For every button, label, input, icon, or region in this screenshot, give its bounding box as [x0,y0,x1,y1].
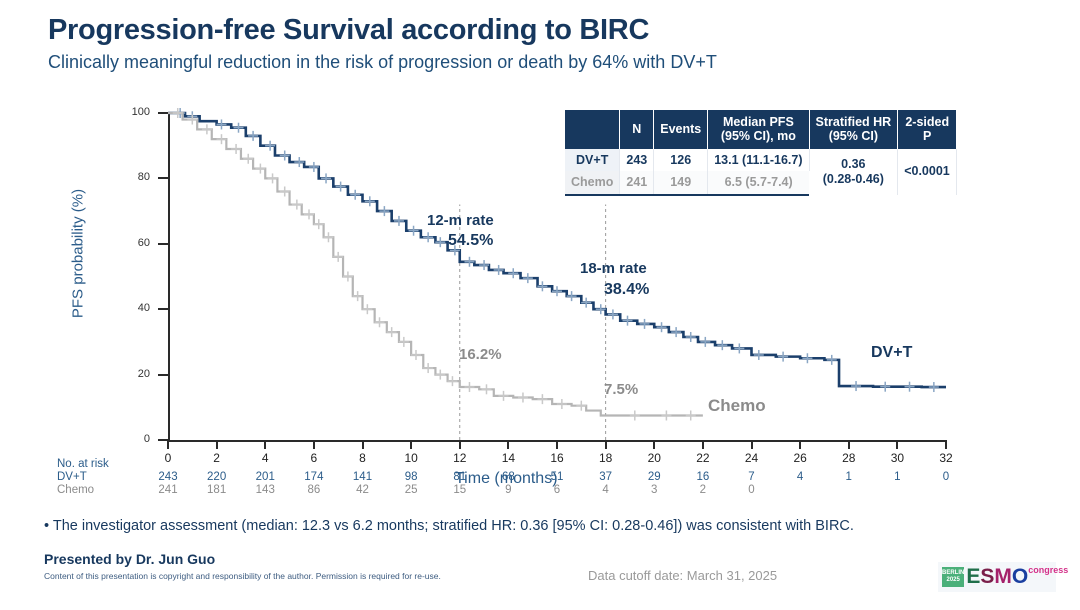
risk-cell: 6 [540,484,574,496]
logo-berlin-badge: BERLIN 2025 [942,567,964,587]
copyright-notice: Content of this presentation is copyrigh… [44,571,441,581]
censor-mark [202,124,212,134]
censor-mark [537,394,547,404]
statistics-table: N Events Median PFS (95% CI), mo Stratif… [565,110,957,196]
censor-mark [508,268,518,278]
censor-mark [905,382,915,392]
censor-mark [754,350,764,360]
risk-cell: 201 [248,471,282,483]
censor-mark [581,298,591,308]
censor-mark [661,410,671,420]
censor-mark [464,257,474,267]
censor-mark [717,340,727,350]
censor-mark [309,162,319,172]
censor-mark [365,196,375,206]
censor-mark [394,216,404,226]
stats-col-arm [565,110,620,149]
stats-cell-events-dvt: 126 [654,149,708,171]
esmo-congress-logo: BERLIN 2025 E S M O congress [938,562,1056,592]
risk-row-label-dvt: DV+T [57,471,87,483]
censor-mark [321,173,331,183]
curve-label-dvt: DV+T [871,344,912,362]
stats-col-hr-line2: (95% CI) [816,129,892,143]
stats-col-p-line1: 2-sided [904,115,950,129]
page-subtitle: Clinically meaningful reduction in the r… [48,52,717,73]
annotation-18m-label: 18-m rate [580,260,647,277]
censor-mark [248,131,258,141]
censor-mark [447,376,457,386]
censor-mark [173,108,183,118]
risk-cell: 98 [394,471,428,483]
censor-mark [802,353,812,363]
censor-mark [929,382,939,392]
risk-cell: 174 [297,471,331,483]
risk-cell: 29 [637,471,671,483]
risk-cell: 42 [346,484,380,496]
censor-mark [323,232,333,242]
stats-col-median-pfs-line2: (95% CI), mo [714,129,802,143]
logo-berlin-line1: BERLIN [942,570,964,577]
stats-row-dvt: DV+T 243 126 13.1 (11.1-16.7) 0.36 (0.28… [565,149,956,171]
censor-mark [294,157,304,167]
censor-mark [255,164,265,174]
censor-mark [552,286,562,296]
censor-mark [567,291,577,301]
stats-cell-median-chemo: 6.5 (5.7-7.4) [708,171,809,194]
risk-cell: 4 [589,484,623,496]
risk-cell: 220 [200,471,234,483]
censor-mark [379,206,389,216]
annotation-12m-label: 12-m rate [427,212,494,229]
censor-mark [557,399,567,409]
censor-mark [523,273,533,283]
stats-cell-events-chemo: 149 [654,171,708,194]
censor-mark [827,355,837,365]
stats-col-p: 2-sided P [898,110,957,149]
risk-cell: 241 [151,484,185,496]
censor-mark [350,190,360,200]
censor-mark [292,200,302,210]
stats-col-p-line2: P [904,129,950,143]
risk-cell: 243 [151,471,185,483]
censor-mark [576,401,586,411]
logo-congress-word: congress [1028,565,1068,575]
annotation-12m-dvt-rate: 54.5% [448,232,493,250]
censor-mark [608,309,618,319]
censor-mark [623,316,633,326]
censor-mark [333,252,343,262]
stats-cell-n-dvt: 243 [620,149,654,171]
censor-mark [280,186,290,196]
censor-mark [234,123,244,133]
censor-mark [851,381,861,391]
censor-mark [686,332,696,342]
risk-cell: 81 [443,471,477,483]
censor-mark [343,272,353,282]
page-title: Progression-free Survival according to B… [48,14,649,47]
censor-mark [671,327,681,337]
censor-mark [494,265,504,275]
censor-mark [216,134,226,144]
censor-mark [280,151,290,161]
censor-mark [537,281,547,291]
logo-letter-m: M [994,565,1012,589]
annotation-18m-dvt-rate: 38.4% [604,281,649,299]
risk-cell: 25 [394,484,428,496]
censor-mark [304,209,314,219]
censor-mark [423,232,433,242]
logo-letter-o: O [1012,565,1028,589]
risk-cell: 9 [491,484,525,496]
risk-cell: 7 [735,471,769,483]
logo-letter-e: E [966,565,980,589]
presented-by: Presented by Dr. Jun Guo [44,551,215,567]
risk-cell: 0 [929,471,963,483]
censor-mark [479,260,489,270]
censor-mark [518,392,528,402]
stats-cell-arm-dvt: DV+T [565,149,620,171]
censor-mark [880,382,890,392]
censor-mark [375,317,385,327]
censor-mark [411,350,421,360]
risk-cell: 141 [346,471,380,483]
stats-header-row: N Events Median PFS (95% CI), mo Stratif… [565,110,956,149]
stats-cell-p: <0.0001 [898,149,957,195]
censor-mark [268,173,278,183]
risk-cell: 2 [686,484,720,496]
stats-col-events: Events [654,110,708,149]
censor-mark [399,337,409,347]
risk-cell: 86 [297,484,331,496]
censor-mark [435,370,445,380]
censor-mark [243,154,253,164]
censor-mark [265,141,275,151]
risk-cell: 181 [200,484,234,496]
stats-hr-ci: (0.28-0.46) [816,172,892,186]
stats-cell-hr: 0.36 (0.28-0.46) [809,149,898,195]
stats-hr-value: 0.36 [816,157,892,171]
censor-mark [464,382,474,392]
censor-mark [778,352,788,362]
censor-mark [499,391,509,401]
censor-mark [362,304,372,314]
stats-cell-arm-chemo: Chemo [565,171,620,194]
censor-mark [216,119,226,129]
risk-cell: 68 [491,471,525,483]
censor-mark [657,322,667,332]
censor-mark [481,384,491,394]
risk-cell: 37 [589,471,623,483]
risk-cell: 1 [832,471,866,483]
risk-cell: 1 [880,471,914,483]
footnote-bullet: • The investigator assessment (median: 1… [44,518,854,534]
censor-mark [231,144,241,154]
censor-mark [734,343,744,353]
stats-col-hr-line1: Stratified HR [816,115,892,129]
data-cutoff-date: Data cutoff date: March 31, 2025 [588,568,777,583]
annotation-12m-chemo-rate: 16.2% [459,346,502,363]
number-at-risk-table: No. at risk DV+T Chemo 24322020117414198… [0,458,1000,508]
logo-berlin-line2: 2025 [946,577,959,584]
censor-mark [336,182,346,192]
risk-cell: 16 [686,471,720,483]
censor-mark [640,319,650,329]
stats-col-median-pfs: Median PFS (95% CI), mo [708,110,809,149]
stats-cell-n-chemo: 241 [620,171,654,194]
annotation-18m-chemo-rate: 7.5% [604,381,638,398]
censor-mark [596,304,606,314]
censor-mark [314,219,324,229]
risk-cell: 3 [637,484,671,496]
stats-col-median-pfs-line1: Median PFS [714,115,802,129]
censor-mark [409,226,419,236]
censor-mark [423,363,433,373]
curve-label-chemo: Chemo [708,396,766,416]
censor-mark [630,410,640,420]
censor-mark [435,237,445,247]
stats-col-n: N [620,110,654,149]
risk-table-heading: No. at risk [57,458,109,470]
risk-cell: 0 [735,484,769,496]
risk-cell: 15 [443,484,477,496]
stats-col-hr: Stratified HR (95% CI) [809,110,898,149]
censor-mark [700,337,710,347]
risk-cell: 143 [248,484,282,496]
logo-letter-s: S [980,565,994,589]
censor-mark [353,291,363,301]
risk-cell: 51 [540,471,574,483]
stats-cell-median-dvt: 13.1 (11.1-16.7) [708,149,809,171]
risk-cell: 4 [783,471,817,483]
censor-mark [387,327,397,337]
censor-mark [686,410,696,420]
risk-row-label-chemo: Chemo [57,484,94,496]
